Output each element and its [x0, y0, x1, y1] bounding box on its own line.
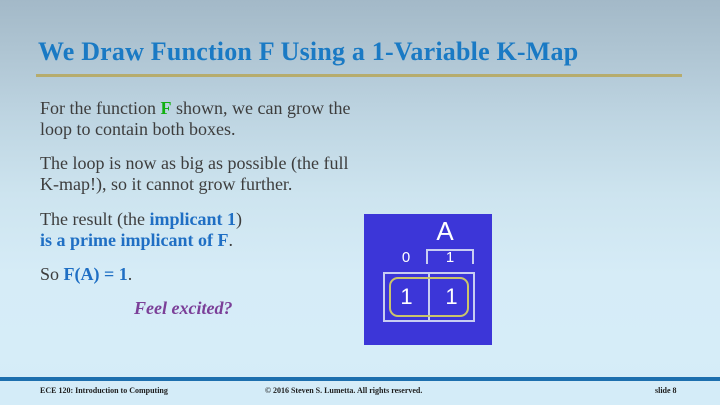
footer-divider: [0, 377, 720, 381]
slide-canvas: We Draw Function F Using a 1-Variable K-…: [0, 0, 720, 405]
para3-text-end: .: [228, 230, 233, 250]
kmap-grid: 1 1: [383, 272, 475, 322]
kmap-column-header-1: 1: [440, 250, 460, 265]
para3-text-mid: ): [236, 209, 242, 229]
para4-text-before: So: [40, 264, 64, 284]
para1-text-before: For the function: [40, 98, 160, 118]
para3-prime-implicant-term: is a prime implicant of F: [40, 230, 228, 250]
body-paragraph-1: For the function F shown, we can grow th…: [40, 98, 370, 140]
para2-text: The loop is now as big as possible (the …: [40, 153, 348, 194]
page-title: We Draw Function F Using a 1-Variable K-…: [38, 38, 678, 67]
para3-text-before: The result (the: [40, 209, 149, 229]
aside-remark: Feel excited?: [134, 298, 232, 319]
kmap-figure: A 0 1 1 1: [364, 214, 492, 345]
footer-copyright: © 2016 Steven S. Lumetta. All rights res…: [265, 386, 422, 395]
kmap-cell-0: 1: [385, 274, 428, 320]
kmap-variable-label: A: [428, 218, 462, 244]
para4-equation: F(A) = 1: [64, 264, 128, 284]
para3-implicant-term: implicant 1: [149, 209, 236, 229]
body-paragraph-3: The result (the implicant 1)is a prime i…: [40, 209, 370, 251]
para1-function-symbol: F: [160, 98, 171, 118]
footer-course-name: ECE 120: Introduction to Computing: [40, 386, 168, 395]
body-paragraph-2: The loop is now as big as possible (the …: [40, 153, 370, 195]
body-paragraph-4: So F(A) = 1.: [40, 264, 370, 285]
footer-slide-number: slide 8: [655, 386, 677, 395]
kmap-column-header-0: 0: [396, 250, 416, 265]
title-divider: [36, 74, 682, 77]
para4-text-after: .: [128, 264, 133, 284]
kmap-cell-1: 1: [428, 274, 473, 320]
